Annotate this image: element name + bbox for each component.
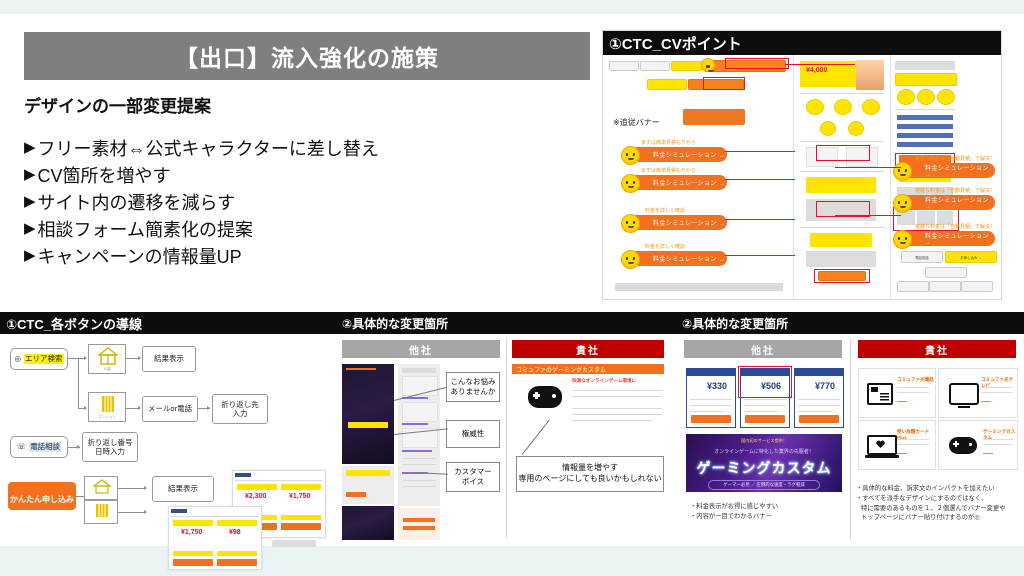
cv-points-header-label: ①CTC_CVポイント: [609, 33, 742, 54]
slide-title-bar: 【出口】流入強化の施策: [24, 32, 590, 80]
feature-icon: [937, 89, 955, 105]
icon-cell-house-2: [84, 476, 118, 500]
flow-node-result-1[interactable]: 結果表示: [142, 346, 196, 372]
icon-cell-house: 戸建: [88, 344, 126, 374]
nav-chip-apply[interactable]: [671, 61, 703, 71]
flow-node-easy-apply[interactable]: かんたん申し込み: [8, 482, 76, 510]
gamepad-icon: [949, 437, 977, 454]
sim-button[interactable]: 料金シミュレーション →: [627, 251, 727, 266]
note-line: ・料金表示がお得に感じやすい: [690, 502, 778, 512]
note-line: 特に需要のあるものを１、２個選んでバナー変更や: [856, 504, 1006, 514]
bullet-text: 相談フォーム簡素化の提案: [38, 217, 253, 244]
banner-lead: オンラインゲームに特化した業界の先駆者！: [686, 448, 842, 455]
mascot-icon: [701, 58, 715, 72]
nav-chip-phone-consult[interactable]: [640, 61, 670, 71]
comparison-panel-2: ②具体的な変更箇所 他社 貴社 ¥330 ¥506: [676, 312, 1024, 546]
feature-icon: [806, 99, 824, 115]
column-header-own: 貴社: [858, 340, 1016, 358]
plan-price: ¥98: [229, 529, 241, 536]
mascot-icon: [893, 194, 912, 213]
annotation-box: [814, 269, 870, 283]
feature-icon: [897, 89, 915, 105]
cta-chip[interactable]: [895, 73, 957, 86]
plan-price: ¥2,300: [245, 493, 266, 500]
option-card-title: コミュファ光電話: [897, 377, 934, 383]
mascot-icon: [893, 230, 912, 249]
comparison-1-body: 他社 貴社: [336, 334, 670, 546]
page-footer-bar: [615, 283, 783, 291]
subnav-chip-area-confirm[interactable]: [647, 79, 687, 90]
cv-column-left: ※追従バナー まずは簡単見積もりから 料金シミュレーション → まずは簡単見積も…: [605, 55, 791, 299]
flow-node-phone-consult[interactable]: ☏ 電話相談: [10, 436, 68, 458]
comparison-1-header-label: ②具体的な変更箇所: [342, 315, 448, 332]
sim-caption: 料金を詳しく確認: [645, 207, 685, 214]
mascot-icon: [621, 174, 640, 193]
apply-chip[interactable]: お申し込み →: [945, 251, 997, 263]
tv-icon: [949, 383, 979, 405]
banner-pill: ゲーマー必見 ／ 圧倒的な速度・ラグ軽減: [708, 480, 820, 490]
footer-chip[interactable]: [925, 267, 967, 278]
notes-left: ・料金表示がお得に感じやすい ・内容が一目でわかるバナー: [690, 502, 778, 522]
banner-ribbon: 国内初のサービス提供！: [686, 438, 842, 444]
callout-pain-points: こんなお悩み ありませんか: [446, 372, 500, 402]
flow-node-label: かんたん申し込み: [10, 494, 74, 505]
float-banner-chip[interactable]: [683, 109, 745, 125]
note-line: ・具体的な料金、訴求文のインパクトを加えたい: [856, 484, 1006, 494]
feature-icon: [820, 121, 836, 136]
annotation-box: [725, 58, 789, 69]
callout-customer-voice: カスタマー ボイス: [446, 462, 500, 492]
list-item: ▶ 相談フォーム簡素化の提案: [24, 217, 584, 244]
flow-node-label: 結果表示: [154, 354, 184, 363]
annotation-box: [738, 366, 792, 398]
laptop-heart-icon: [867, 435, 897, 455]
list-item: ▶ キャンペーンの情報量UP: [24, 244, 584, 271]
annotation-box: [703, 77, 745, 90]
float-banner-note: ※追従バナー: [613, 117, 660, 128]
icon-cell-apartment-2: [84, 500, 118, 524]
sim-caption: まずは簡単見積もりから: [641, 167, 696, 174]
sim-caption: 複雑な料金は「自動見積」で解決！: [915, 155, 995, 162]
sim-button[interactable]: 料金シミュレーション →: [627, 147, 727, 162]
flow-node-label: 結果表示: [168, 484, 198, 493]
flow-node-label: エリア検索: [24, 354, 64, 363]
flow-node-callback-input[interactable]: 折り返し先 入力: [212, 394, 268, 424]
banner-title: ゲーミングカスタム: [686, 458, 842, 478]
mascot-icon: [893, 162, 912, 181]
bullet-text: フリー素材⇔公式キャラクターに差し替え: [38, 136, 379, 163]
breadcrumb-bar: [895, 61, 955, 70]
bullet-text: サイト内の遷移を減らす: [38, 190, 236, 217]
cv-points-panel: ①CTC_CVポイント ※追従バナー まずは簡単見積もりから 料金シミュレーショ…: [602, 30, 1002, 300]
phone-icon: [867, 383, 893, 405]
bullet-marker-icon: ▶: [24, 136, 36, 161]
bullet-text: CV箇所を増やす: [38, 163, 171, 190]
list-item: ▶ サイト内の遷移を減らす: [24, 190, 584, 217]
bullet-text: キャンペーンの情報量UP: [38, 244, 242, 271]
promo-price: ¥4,000: [806, 67, 827, 74]
flow-node-label: 折り返し番号 日時入力: [88, 438, 133, 457]
annotation-box: [816, 145, 870, 161]
page-title: 【出口】流入強化の施策: [175, 39, 439, 73]
price-value: ¥770: [815, 381, 835, 391]
button-flow-panel: ①CTC_各ボタンの導線 ◎ エリア検索 戸建: [0, 312, 330, 546]
phone-consult-chip[interactable]: 電話相談: [901, 251, 943, 263]
feature-icon: [848, 121, 864, 136]
mascot-icon: [621, 214, 640, 233]
sim-caption: 複雑な料金は「自動見積」で解決！: [915, 187, 995, 194]
cv-points-body: ※追従バナー まずは簡単見積もりから 料金シミュレーション → まずは簡単見積も…: [603, 55, 1001, 299]
comment-box: 情報量を増やす 専用のページにしても良いかもしれない: [516, 456, 664, 492]
comparison-2-header: ②具体的な変更箇所: [676, 312, 1024, 334]
slide-canvas: 【出口】流入強化の施策 デザインの一部変更提案 ▶ フリー素材⇔公式キャラクター…: [0, 0, 1024, 576]
bullet-list: ▶ フリー素材⇔公式キャラクターに差し替え ▶ CV箇所を増やす ▶ サイト内の…: [24, 136, 584, 271]
slide-subtitle: デザインの一部変更提案: [24, 92, 211, 117]
comparison-panel-1: ②具体的な変更箇所 他社 貴社: [336, 312, 670, 546]
mascot-icon: [621, 250, 640, 269]
list-row: [897, 115, 953, 120]
plan-price: ¥1,750: [181, 529, 202, 536]
flow-node-label: 電話相談: [29, 442, 61, 451]
list-row: [897, 142, 953, 147]
competitor-page-scroll: [398, 364, 440, 506]
feature-icon: [862, 99, 880, 115]
bullet-marker-icon: ▶: [24, 217, 36, 242]
more-button[interactable]: [272, 540, 316, 547]
sim-button[interactable]: 料金シミュレーション →: [899, 195, 995, 210]
sim-caption: 料金を詳しく確認: [645, 243, 685, 250]
competitor-site-thumb-1: [342, 364, 394, 464]
sim-button[interactable]: 料金シミュレーション →: [627, 215, 727, 230]
icon-caption: マンション: [89, 414, 125, 419]
plan-result-card-front: ¥1,750 ¥98: [168, 506, 262, 570]
flow-node-area-search[interactable]: ◎ エリア検索: [10, 348, 68, 370]
flow-node-label: メールor電話: [148, 404, 192, 413]
footer-chip[interactable]: [929, 281, 961, 292]
button-flow-body: ◎ エリア検索 戸建: [0, 334, 330, 546]
flow-node-callback-number[interactable]: 折り返し番号 日時入力: [82, 432, 138, 462]
gamepad-icon: [528, 386, 562, 408]
column-header-other: 他社: [342, 340, 500, 358]
price-card[interactable]: ¥770: [794, 368, 844, 428]
own-lead-text: 快適なオンラインゲーム環境に: [572, 378, 662, 384]
sim-caption: 複雑な料金は「自動見積」で解決！: [915, 223, 995, 230]
campaign-banner: [806, 177, 876, 193]
price-value: ¥330: [707, 381, 727, 391]
sim-button[interactable]: 料金シミュレーション →: [899, 231, 995, 246]
footer-chip[interactable]: [897, 281, 929, 292]
feature-icon: [917, 89, 935, 105]
flow-node-mail-or-phone[interactable]: メールor電話: [142, 396, 198, 422]
cv-points-header: ①CTC_CVポイント: [603, 31, 1001, 55]
gaming-banner: 国内初のサービス提供！ オンラインゲームに特化した業界の先駆者！ ゲーミングカス…: [686, 434, 842, 492]
comparison-2-header-label: ②具体的な変更箇所: [682, 315, 788, 332]
plan-price: ¥1,750: [289, 493, 310, 500]
list-row: [897, 124, 953, 129]
cv-column-right: エリア検索：3 電話相談：2 シミュレーション：9 簡単申込：3 合計：17 複…: [891, 55, 999, 299]
sim-caption: まずは簡単見積もりから: [641, 139, 696, 146]
callout-authority: 権威性: [446, 420, 500, 448]
competitor-site-thumb-3: [342, 506, 394, 540]
competitor-site-thumb-2: [342, 466, 394, 504]
bullet-marker-icon: ▶: [24, 163, 36, 188]
content-block: [810, 233, 872, 247]
cv-column-mid: ¥4,000: [793, 55, 891, 299]
competitor-form-block: [398, 508, 440, 540]
bullet-marker-icon: ▶: [24, 244, 36, 269]
sim-button[interactable]: 料金シミュレーション →: [627, 175, 727, 190]
mascot-icon: [621, 146, 640, 165]
footer-chip[interactable]: [961, 281, 993, 292]
column-header-other: 他社: [684, 340, 842, 358]
price-card[interactable]: ¥330: [686, 368, 736, 428]
note-line: ・すべてを派手なデザインにするのではなく、: [856, 494, 1006, 504]
option-card[interactable]: 使い放題カードPlus: [858, 420, 936, 470]
comparison-2-body: 他社 貴社 ¥330 ¥506: [676, 334, 1024, 546]
promo-person-photo: [856, 60, 884, 90]
note-line: トップページにバナー貼り付けするのが◎: [856, 513, 1006, 523]
option-card[interactable]: コミュファ光電話: [858, 368, 936, 418]
feature-icon: [834, 99, 852, 115]
note-line: ・内容が一目でわかるバナー: [690, 512, 778, 522]
notes-right: ・具体的な料金、訴求文のインパクトを加えたい ・すべてを派手なデザインにするので…: [856, 484, 1006, 523]
option-card[interactable]: コミュファ光テレビ: [938, 368, 1018, 418]
option-card[interactable]: ゲーミングカスタム: [938, 420, 1018, 470]
sim-button[interactable]: 料金シミュレーション →: [899, 163, 995, 178]
list-row: [897, 133, 953, 138]
button-flow-header: ①CTC_各ボタンの導線: [0, 312, 336, 334]
own-orange-bar: コミュファのゲーミングカスタム: [512, 364, 664, 374]
bullet-marker-icon: ▶: [24, 190, 36, 215]
comparison-1-header: ②具体的な変更箇所: [336, 312, 676, 334]
content-block: [806, 251, 876, 267]
button-flow-header-label: ①CTC_各ボタンの導線: [6, 314, 142, 333]
flow-node-result-2[interactable]: 結果表示: [152, 476, 214, 502]
list-item: ▶ フリー素材⇔公式キャラクターに差し替え: [24, 136, 584, 163]
pin-icon: ◎: [14, 354, 21, 363]
column-header-own: 貴社: [512, 340, 664, 358]
nav-chip-area-search[interactable]: [609, 61, 639, 71]
icon-cell-apartment: マンション: [88, 392, 126, 422]
icon-caption: 戸建: [89, 366, 125, 371]
phone-icon: ☏: [17, 442, 26, 451]
list-item: ▶ CV箇所を増やす: [24, 163, 584, 190]
flow-node-label: 折り返し先 入力: [221, 400, 259, 419]
